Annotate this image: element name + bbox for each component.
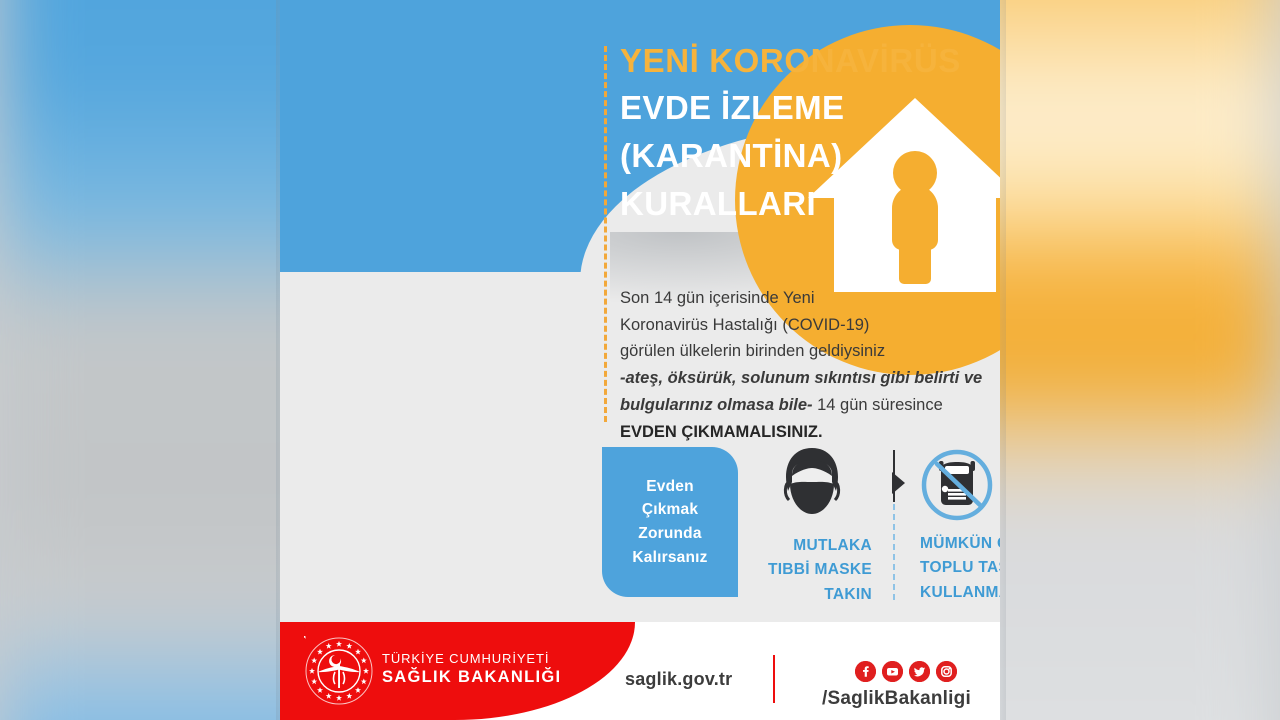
youtube-icon[interactable] [882,661,903,682]
vertical-dashed-divider [604,46,607,422]
section-divider [888,450,902,600]
face-with-medical-mask-icon [750,448,875,520]
divider-dashed-line [893,504,895,600]
advice-item-bus: MÜMKÜN OLDUĞUNCATOPLU TAŞIMA ARAÇLARINIK… [920,448,1000,605]
instagram-icon[interactable] [936,661,957,682]
ministry-line-2: SAĞLIK BAKANLIĞI [382,667,561,688]
body-strong: EVDEN ÇIKMAMALISINIZ. [620,423,823,441]
twitter-icon[interactable] [909,661,930,682]
footer-vertical-rule [773,655,775,703]
website-text[interactable]: saglik.gov.tr [625,669,732,690]
title-line-1: YENİ KORONAVİRÜS [620,40,1000,82]
no-public-transport-bus-icon [920,448,1000,522]
body-paragraph: Son 14 gün içerisinde Yeni Koronavirüs H… [620,285,1000,445]
body-line-3: görülen ülkelerin birinden geldiysiniz [620,342,885,360]
ministry-text: TÜRKİYE CUMHURİYETİ SAĞLIK BAKANLIĞI [382,651,561,688]
ministry-of-health-emblem [304,636,374,706]
body-line-1: Son 14 gün içerisinde Yeni [620,289,815,307]
advice-label-bus: MÜMKÜN OLDUĞUNCATOPLU TAŞIMA ARAÇLARINIK… [920,532,1000,605]
facebook-icon[interactable] [855,661,876,682]
title-line-4: KURALLARI [620,180,1000,228]
body-line-2: Koronavirüs Hastalığı (COVID-19) [620,316,869,334]
must-leave-home-label: EvdenÇıkmakZorundaKalırsanız [632,475,707,569]
ministry-line-1: TÜRKİYE CUMHURİYETİ [382,651,561,667]
title-line-2: EVDE İZLEME [620,84,1000,132]
arrow-right-icon [892,472,905,494]
must-leave-home-card: EvdenÇıkmakZorundaKalırsanız [602,447,738,597]
advice-item-mask: MUTLAKATIBBİ MASKETAKIN [750,448,875,607]
poster-footer: TÜRKİYE CUMHURİYETİ SAĞLIK BAKANLIĞI sag… [280,622,1000,720]
body-line-4: 14 gün süresince [813,396,943,414]
body-emphasis-2: bulgularınız olmasa bile- [620,396,813,414]
social-handle-text[interactable]: /SaglikBakanligi [822,688,971,710]
advice-label-mask: MUTLAKATIBBİ MASKETAKIN [750,534,875,607]
poster: YENİ KORONAVİRÜS EVDE İZLEME (KARANTİNA)… [280,0,1000,720]
social-icons [855,661,957,682]
body-emphasis-1: -ateş, öksürük, solunum sıkıntısı gibi b… [620,369,982,387]
poster-title-block: YENİ KORONAVİRÜS EVDE İZLEME (KARANTİNA)… [620,40,1000,228]
screenshot-stage: YENİ KORONAVİRÜS EVDE İZLEME (KARANTİNA)… [0,0,1280,720]
title-line-3: (KARANTİNA) [620,132,1000,180]
